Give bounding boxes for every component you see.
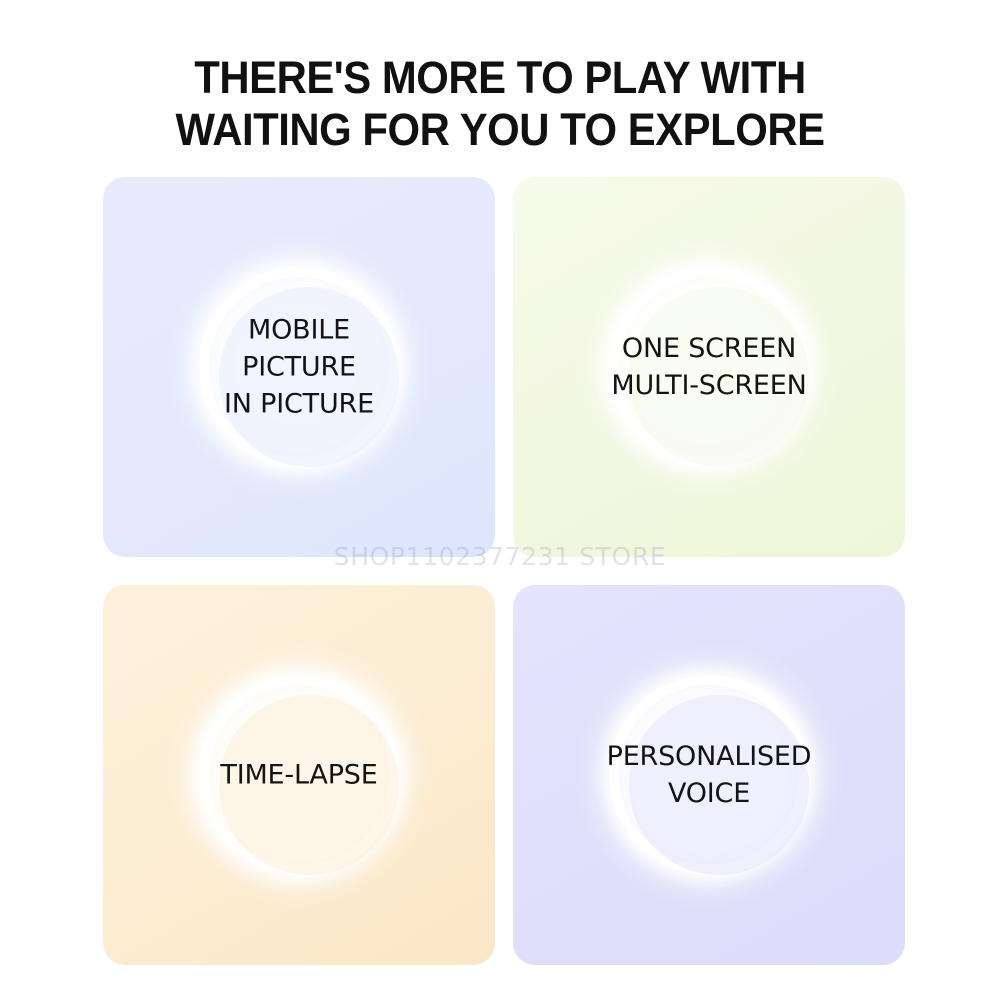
feature-card-label: ONE SCREEN MULTI-SCREEN xyxy=(544,330,874,404)
feature-card-label: PERSONALISED VOICE xyxy=(544,738,874,812)
feature-card-mobile-picture-in-picture[interactable]: MOBILE PICTURE IN PICTURE xyxy=(103,177,495,557)
feature-card-label: TIME-LAPSE xyxy=(134,757,464,794)
feature-card-label: MOBILE PICTURE IN PICTURE xyxy=(134,312,464,423)
feature-card-grid: MOBILE PICTURE IN PICTURE ONE SCREEN MUL… xyxy=(103,177,897,982)
feature-card-one-screen-multi-screen[interactable]: ONE SCREEN MULTI-SCREEN xyxy=(513,177,905,557)
feature-card-personalised-voice[interactable]: PERSONALISED VOICE xyxy=(513,585,905,965)
page-title: THERE'S MORE TO PLAY WITH WAITING FOR YO… xyxy=(35,52,965,156)
feature-card-time-lapse[interactable]: TIME-LAPSE xyxy=(103,585,495,965)
